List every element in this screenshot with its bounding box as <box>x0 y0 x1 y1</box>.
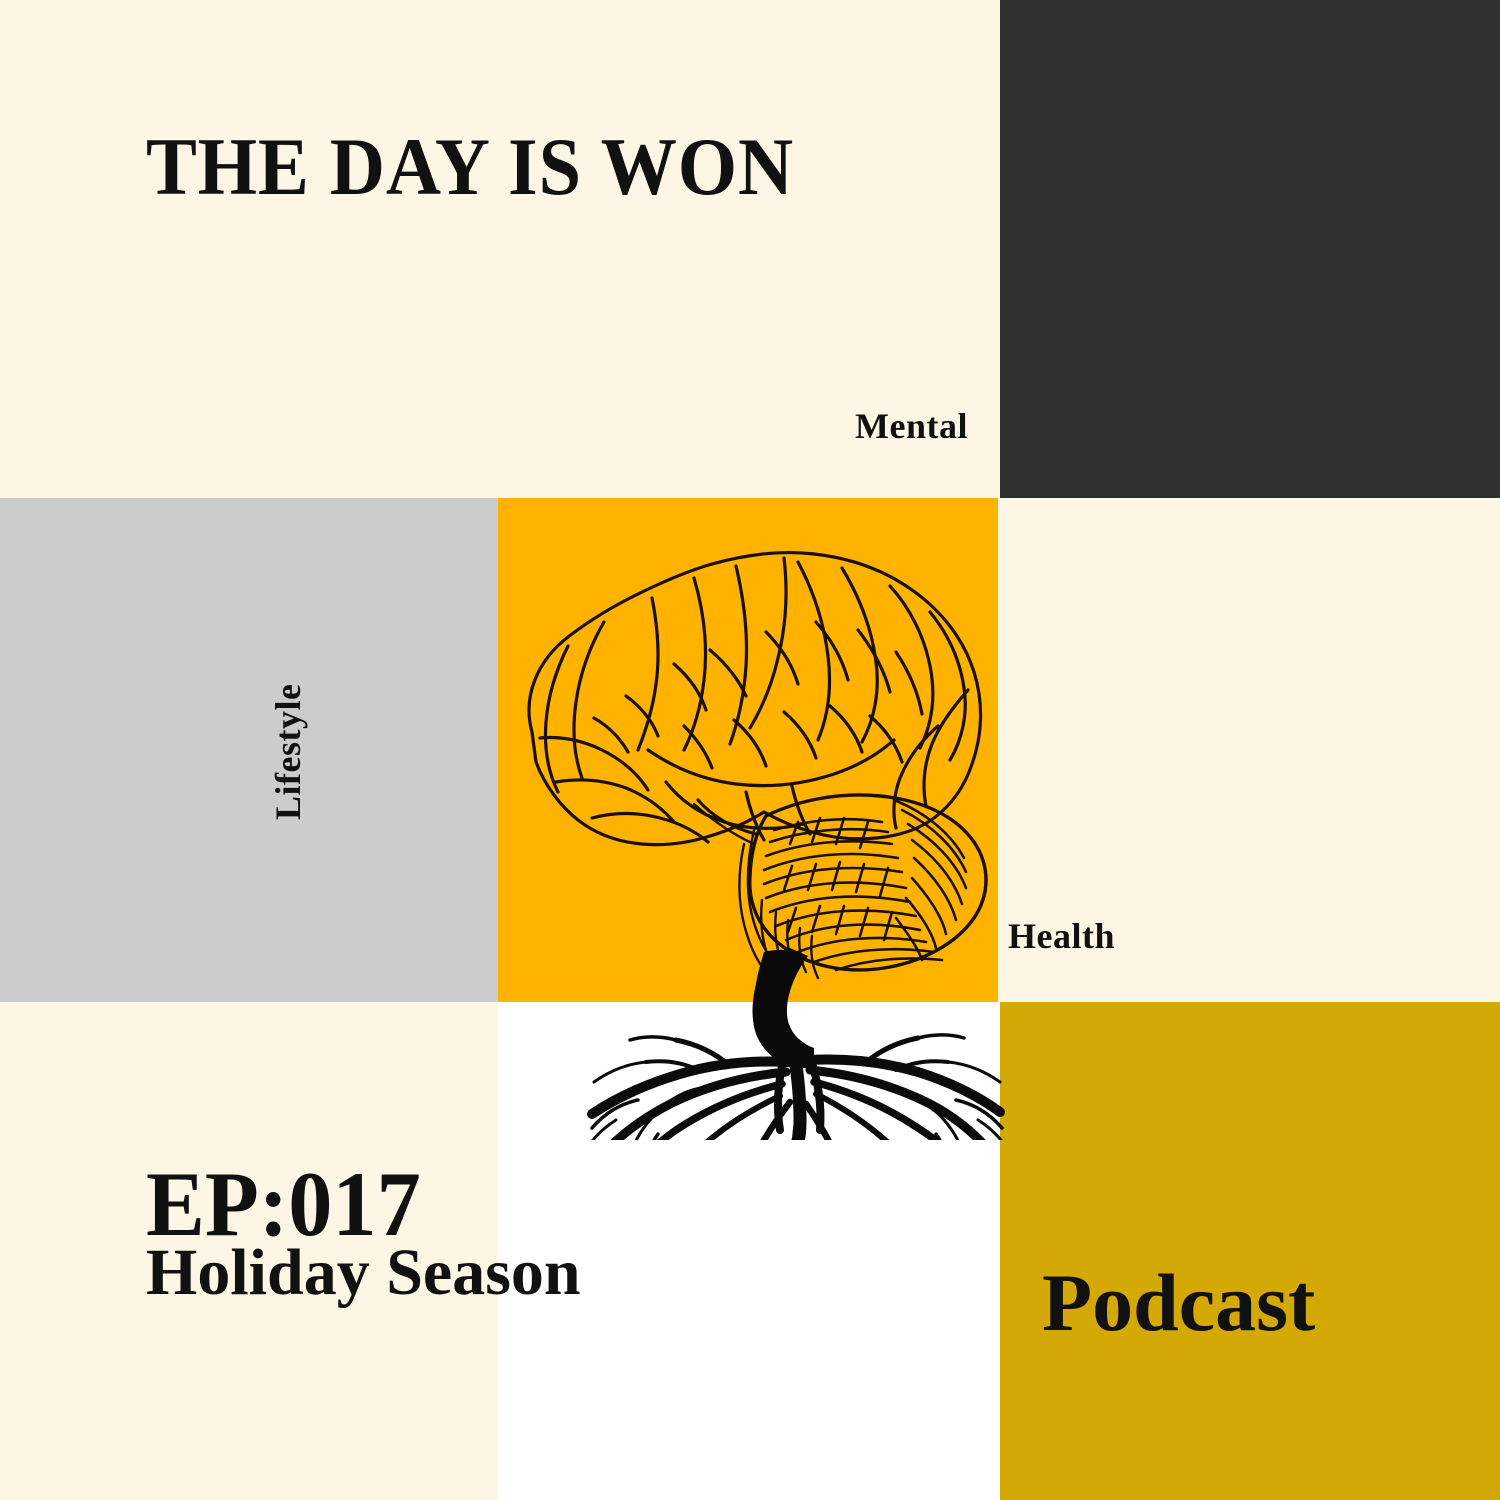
category-label-mental: Mental <box>855 408 968 444</box>
episode-title: Holiday Season <box>146 1240 581 1306</box>
category-label-health: Health <box>1008 918 1115 954</box>
background-block-top-right <box>1000 0 1500 498</box>
background-block-mid-center <box>498 498 998 1002</box>
podcast-cover-art: THE DAY IS WON Mental Lifestyle Health E… <box>0 0 1500 1500</box>
background-block-mid-left <box>0 498 498 1002</box>
background-block-bottom-right <box>1000 1002 1500 1500</box>
category-label-lifestyle: Lifestyle <box>270 684 306 820</box>
page-title: THE DAY IS WON <box>146 126 794 208</box>
podcast-word: Podcast <box>1042 1262 1315 1344</box>
background-block-top-left <box>0 0 1000 498</box>
